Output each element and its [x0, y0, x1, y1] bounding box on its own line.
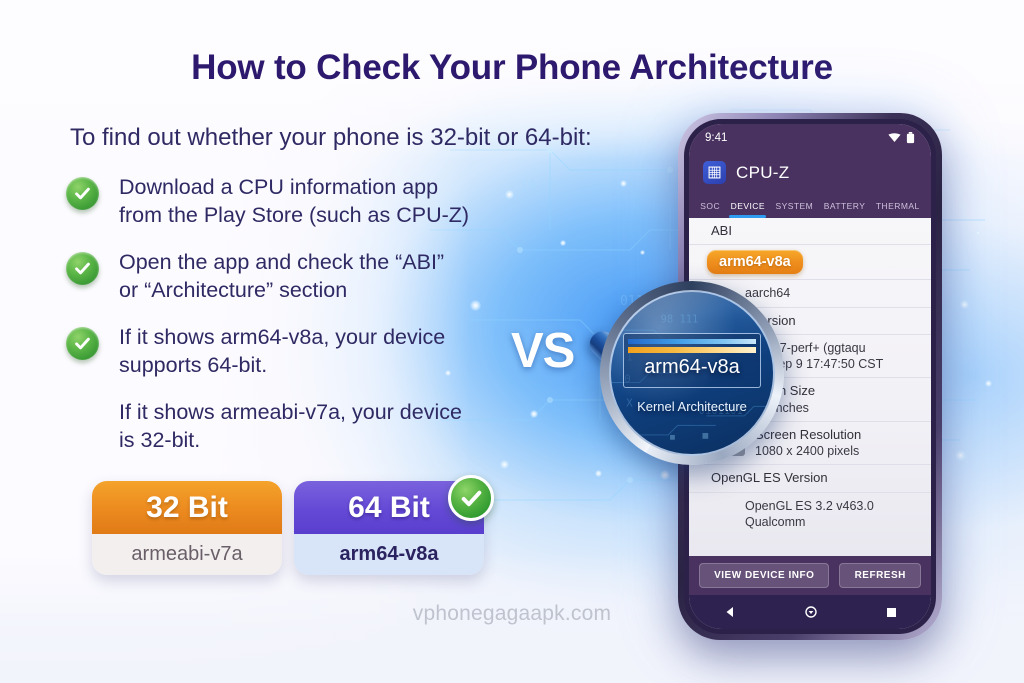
check-circle-icon: [66, 327, 99, 360]
table-row: OpenGL ES 3.2 v463.0 Qualcomm: [689, 493, 931, 536]
phone-app-bar: CPU-Z: [689, 151, 931, 194]
table-row: arm64-v8a: [689, 245, 931, 280]
check-circle-icon: [66, 177, 99, 210]
status-time: 9:41: [705, 132, 727, 144]
phone-tab-bar: SOC DEVICE SYSTEM BATTERY THERMAL: [689, 194, 931, 218]
list-item-line2: or “Architecture” section: [119, 278, 347, 302]
table-row: ABI: [689, 218, 931, 245]
nav-recents-icon[interactable]: [886, 607, 897, 618]
tab-system[interactable]: SYSTEM: [770, 194, 818, 218]
magnifier-lens: 98 111 1 0 X 0101101 arm64-v8a: [609, 290, 775, 456]
check-circle-icon: [66, 252, 99, 285]
magnifier-value-chip: arm64-v8a: [623, 333, 761, 388]
cpu-chip-icon: [703, 161, 726, 184]
svg-text:X: X: [626, 397, 633, 409]
phone-nav-bar: [689, 595, 931, 629]
lens-accent-bar-orange: [628, 347, 756, 353]
magnifier-value: arm64-v8a: [624, 355, 760, 381]
magnifier-caption: Kernel Architecture: [637, 399, 747, 414]
card-wrapper-32bit: 32 Bit armeabi-v7a: [92, 481, 282, 575]
bit-card-32-title: 32 Bit: [92, 481, 282, 534]
vs-label: VS: [511, 323, 574, 379]
tab-device[interactable]: DEVICE: [725, 194, 770, 218]
lens-accent-bar-blue: [628, 339, 756, 344]
row-label-abi: ABI: [711, 223, 917, 239]
list-item-line2: supports 64-bit.: [119, 353, 267, 377]
list-item-text: Download a CPU information app from the …: [119, 174, 469, 229]
row-value-opengl-vendor: Qualcomm: [745, 514, 917, 530]
svg-text:98 111: 98 111: [661, 313, 699, 325]
bit-card-64-abi: arm64-v8a: [294, 534, 484, 575]
app-name: CPU-Z: [736, 163, 789, 183]
list-item: Download a CPU information app from the …: [66, 174, 506, 229]
tab-thermal[interactable]: THERMAL: [871, 194, 925, 218]
row-value-opengl-version: OpenGL ES 3.2 v463.0: [745, 498, 917, 514]
tab-soc[interactable]: SOC: [695, 194, 725, 218]
wifi-icon: [888, 132, 901, 143]
list-item-line2: from the Play Store (such as CPU-Z): [119, 203, 469, 227]
infographic-canvas: 01101 1001 0110 10 How to Check Your Pho…: [0, 0, 1024, 683]
status-icon-group: [888, 132, 915, 144]
nav-home-icon[interactable]: [805, 606, 817, 618]
nav-back-icon[interactable]: [724, 606, 736, 618]
phone-action-bar: VIEW DEVICE INFO REFRESH: [689, 556, 931, 595]
note-text: If it shows armeabi-v7a, your device is …: [119, 399, 506, 454]
refresh-button[interactable]: REFRESH: [839, 563, 921, 588]
magnifier-ring: 98 111 1 0 X 0101101 arm64-v8a: [600, 281, 784, 465]
list-item-line1: If it shows arm64-v8a, your device: [119, 325, 445, 349]
list-item: Open the app and check the “ABI” or “Arc…: [66, 249, 506, 304]
card-wrapper-64bit: 64 Bit arm64-v8a: [294, 481, 484, 575]
bit-card-32-abi: armeabi-v7a: [92, 534, 282, 575]
magnifying-glass-icon: 98 111 1 0 X 0101101 arm64-v8a: [600, 281, 784, 465]
page-title: How to Check Your Phone Architecture: [0, 48, 1024, 88]
list-item-text: Open the app and check the “ABI” or “Arc…: [119, 249, 444, 304]
table-row: OpenGL ES Version: [689, 465, 931, 492]
check-circle-icon: [448, 475, 494, 521]
phone-status-bar: 9:41: [689, 124, 931, 151]
note-line1: If it shows armeabi-v7a, your device: [119, 400, 462, 424]
bit-comparison-cards: 32 Bit armeabi-v7a 64 Bit arm64-v8a: [92, 481, 484, 575]
page-subtitle: To find out whether your phone is 32-bit…: [70, 124, 592, 152]
list-item: If it shows arm64-v8a, your device suppo…: [66, 324, 506, 379]
list-item-text: If it shows arm64-v8a, your device suppo…: [119, 324, 445, 379]
view-device-info-button[interactable]: VIEW DEVICE INFO: [699, 563, 829, 588]
note-line2: is 32-bit.: [119, 428, 200, 452]
list-item-line1: Open the app and check the “ABI”: [119, 250, 444, 274]
abi-chip: arm64-v8a: [707, 250, 803, 274]
row-label-opengl: OpenGL ES Version: [711, 470, 917, 486]
instruction-list: Download a CPU information app from the …: [66, 174, 506, 454]
tab-battery[interactable]: BATTERY: [818, 194, 870, 218]
list-item-line1: Download a CPU information app: [119, 175, 438, 199]
bit-card-32[interactable]: 32 Bit armeabi-v7a: [92, 481, 282, 575]
battery-icon: [906, 132, 915, 144]
